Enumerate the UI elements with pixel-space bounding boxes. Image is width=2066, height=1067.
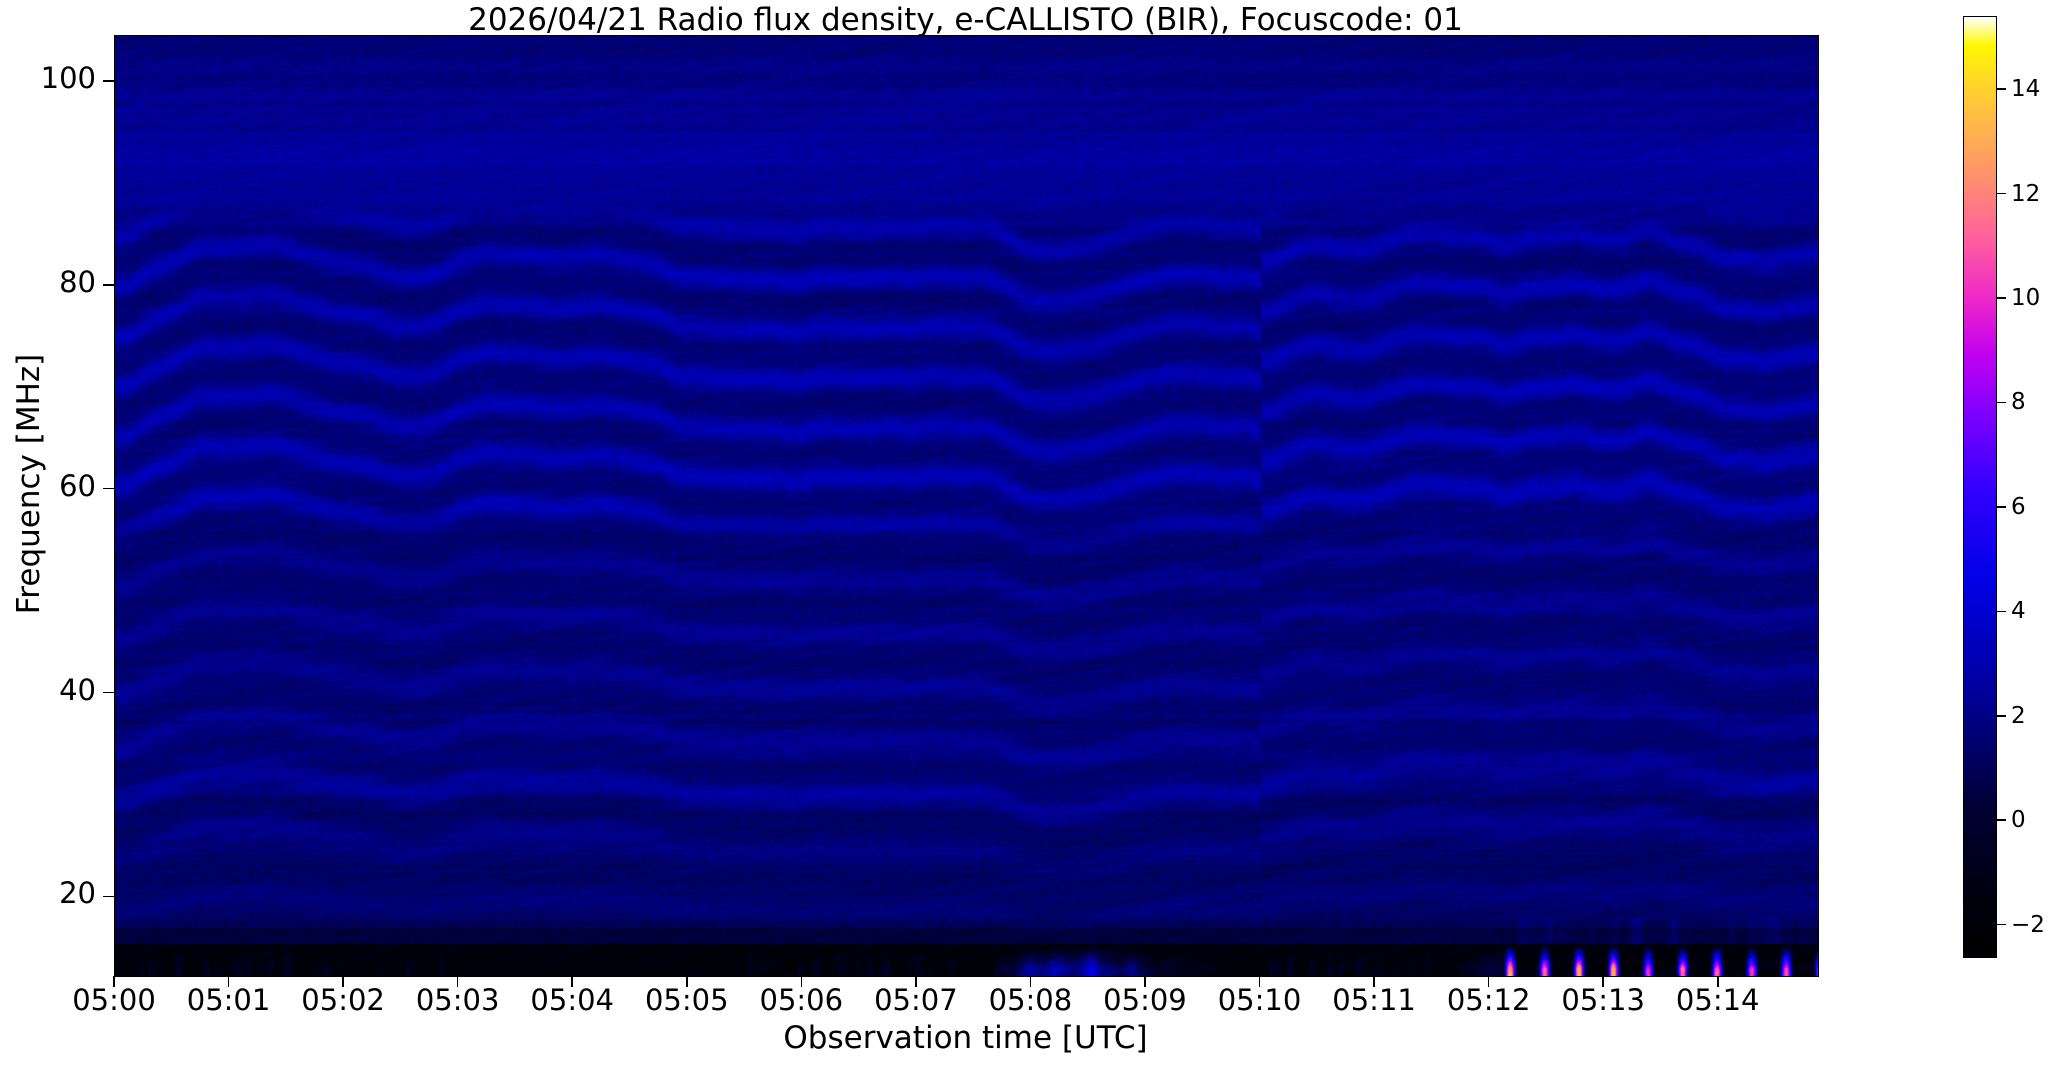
spectrogram-axes	[114, 35, 1819, 977]
y-tick-label: 20	[0, 876, 96, 910]
y-tick-mark	[103, 284, 114, 286]
spectrogram-image	[115, 36, 1818, 976]
y-tick-label: 40	[0, 673, 96, 707]
x-tick-label: 05:12	[1447, 983, 1531, 1017]
y-tick-label: 80	[0, 265, 96, 299]
y-tick-mark	[103, 896, 114, 898]
x-tick-label: 05:05	[645, 983, 729, 1017]
x-tick-label: 05:08	[989, 983, 1073, 1017]
x-tick-label: 05:13	[1561, 983, 1645, 1017]
y-tick-mark	[103, 692, 114, 694]
colorbar-gradient	[1964, 17, 1996, 957]
colorbar-tick-mark	[1996, 402, 2006, 404]
y-tick-mark	[103, 488, 114, 490]
x-tick-label: 05:01	[187, 983, 271, 1017]
colorbar-tick-label: 8	[2011, 389, 2026, 415]
y-tick-mark	[103, 80, 114, 82]
colorbar-tick-label: 4	[2011, 598, 2026, 624]
x-tick-label: 05:14	[1676, 983, 1760, 1017]
colorbar-tick-label: 14	[2011, 76, 2040, 102]
spectrogram-figure: 2026/04/21 Radio flux density, e-CALLIST…	[0, 0, 2066, 1067]
page-title: 2026/04/21 Radio flux density, e-CALLIST…	[114, 2, 1817, 38]
colorbar-tick-mark	[1996, 819, 2006, 821]
colorbar-tick-mark	[1996, 611, 2006, 613]
x-axis-label: Observation time [UTC]	[114, 1020, 1817, 1056]
x-tick-label: 05:11	[1332, 983, 1416, 1017]
x-tick-label: 05:06	[760, 983, 844, 1017]
colorbar-tick-label: 10	[2011, 285, 2040, 311]
x-tick-label: 05:07	[874, 983, 958, 1017]
x-tick-label: 05:03	[416, 983, 500, 1017]
x-tick-label: 05:04	[530, 983, 614, 1017]
colorbar-tick-mark	[1996, 715, 2006, 717]
colorbar-tick-label: 12	[2011, 181, 2040, 207]
colorbar-tick-label: 2	[2011, 703, 2026, 729]
colorbar-tick-mark	[1996, 924, 2006, 926]
colorbar-tick-label: 6	[2011, 494, 2026, 520]
x-tick-label: 05:00	[72, 983, 156, 1017]
colorbar-axes	[1963, 16, 1997, 958]
colorbar-tick-label: −2	[2011, 912, 2045, 938]
colorbar-tick-mark	[1996, 297, 2006, 299]
colorbar-tick-mark	[1996, 506, 2006, 508]
x-tick-label: 05:09	[1103, 983, 1187, 1017]
y-tick-label: 60	[0, 469, 96, 503]
colorbar-tick-label: 0	[2011, 807, 2026, 833]
y-tick-label: 100	[0, 61, 96, 95]
colorbar-tick-mark	[1996, 88, 2006, 90]
x-tick-label: 05:10	[1218, 983, 1302, 1017]
x-tick-label: 05:02	[301, 983, 385, 1017]
colorbar-tick-mark	[1996, 193, 2006, 195]
